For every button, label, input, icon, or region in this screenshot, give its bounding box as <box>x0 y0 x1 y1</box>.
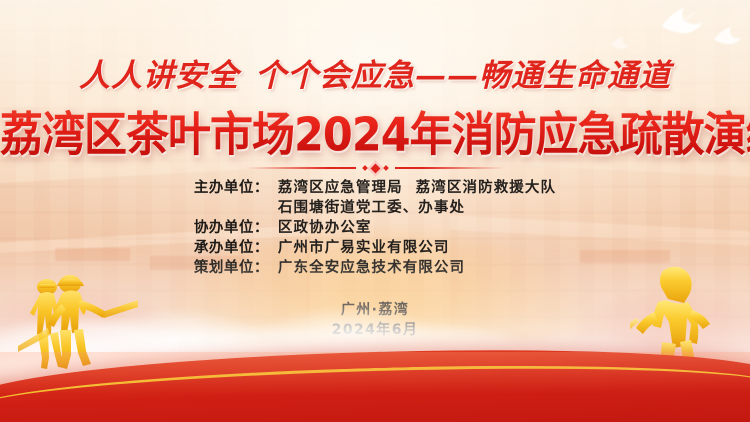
divider-rule-left <box>246 167 356 169</box>
organizer-row: 协办单位： 区政协办公室 <box>194 218 556 238</box>
divider-rule-right <box>395 167 505 169</box>
organizer-label: 协办单位： <box>194 218 278 238</box>
organizer-value: 石围塘街道党工委、办事处 <box>278 198 556 218</box>
organizer-row: 石围塘街道党工委、办事处 <box>194 198 556 218</box>
firefighter-silhouette-left <box>18 268 138 380</box>
divider-ornament <box>225 160 525 176</box>
page-title: 荔湾区茶叶市场2024年消防应急疏散演练 <box>0 98 750 165</box>
dove-icon <box>658 6 704 36</box>
poster-slogan: 人人讲安全个个会应急——畅通生命通道 <box>0 50 750 95</box>
organizer-label <box>194 198 278 218</box>
organizer-row: 主办单位： 荔湾区应急管理局荔湾区消防救援大队 <box>194 178 556 198</box>
poster-banner: 人人讲安全个个会应急——畅通生命通道 荔湾区茶叶市场2024年消防应急疏散演练 … <box>0 0 750 422</box>
slogan-part-1: 人人讲安全 <box>79 58 239 94</box>
organizer-value: 区政协办公室 <box>278 218 556 238</box>
organizer-label: 主办单位： <box>194 178 278 198</box>
dove-icon <box>712 26 742 46</box>
slogan-part-2: 个个会应急——畅通生命通道 <box>255 58 671 94</box>
dove-icon <box>610 36 630 50</box>
organizer-value: 荔湾区应急管理局荔湾区消防救援大队 <box>278 178 556 198</box>
divider-diamond-icon <box>363 163 388 174</box>
